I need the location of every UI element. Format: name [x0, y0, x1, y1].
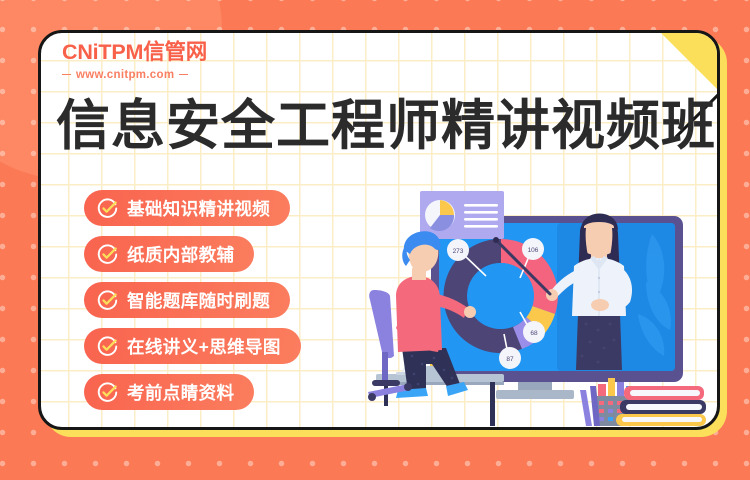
check-circle-icon — [97, 382, 118, 403]
logo-url-text: www.cnitpm.com — [76, 69, 174, 81]
feature-pill-1[interactable]: 基础知识精讲视频 — [84, 190, 290, 226]
feature-pill-label: 智能题库随时刷题 — [127, 288, 270, 313]
illustration-svg: 273 106 68 87 — [368, 178, 708, 426]
logo-brand-text: CNiTPM信管网 — [62, 41, 207, 65]
book-stack — [616, 386, 706, 426]
feature-pill-label: 考前点睛资料 — [127, 380, 234, 405]
feature-pill-label: 在线讲义+思维导图 — [127, 334, 281, 359]
feature-pill-label: 基础知识精讲视频 — [127, 196, 270, 221]
feature-pill-label: 纸质内部教辅 — [127, 242, 234, 267]
page-title: 信息安全工程师精讲视频班 — [56, 97, 716, 155]
callout-label-1: 273 — [453, 248, 464, 255]
feature-pill-3[interactable]: 智能题库随时刷题 — [84, 282, 290, 318]
feature-list: 基础知识精讲视频 纸质内部教辅 智能题库随时刷题 在线讲义+思维导图 — [84, 190, 301, 410]
callout-label-4: 87 — [506, 356, 514, 363]
pie-chart-card — [420, 191, 504, 239]
feature-pill-2[interactable]: 纸质内部教辅 — [84, 236, 254, 272]
promo-banner: CNiTPM信管网 www.cnitpm.com 信息安全工程师精讲视频班 基础… — [0, 0, 750, 480]
dash-right-icon — [179, 74, 188, 76]
logo-url: www.cnitpm.com — [62, 69, 207, 81]
feature-pill-4[interactable]: 在线讲义+思维导图 — [84, 328, 301, 364]
callout-label-2: 106 — [528, 247, 539, 254]
online-class-illustration: 273 106 68 87 — [368, 178, 708, 426]
check-circle-icon — [97, 290, 118, 311]
check-circle-icon — [97, 244, 118, 265]
feature-pill-5[interactable]: 考前点睛资料 — [84, 374, 254, 410]
leaning-pens — [580, 386, 600, 426]
check-circle-icon — [97, 336, 118, 357]
dash-left-icon — [62, 74, 71, 76]
callout-label-3: 68 — [530, 330, 538, 337]
brand-logo: CNiTPM信管网 www.cnitpm.com — [62, 41, 207, 81]
check-circle-icon — [97, 198, 118, 219]
